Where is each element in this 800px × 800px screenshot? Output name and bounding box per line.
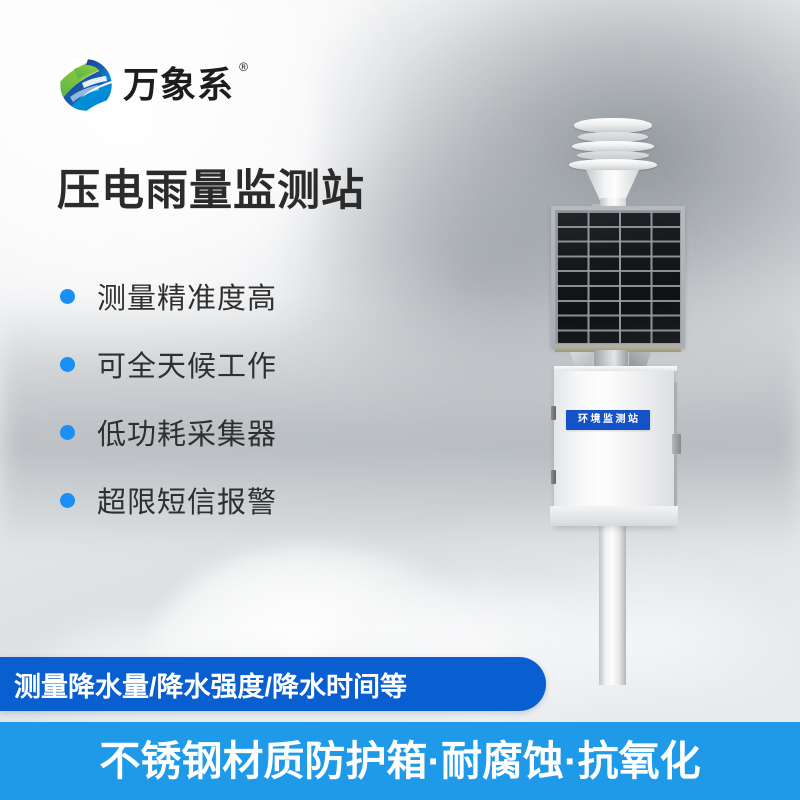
product-promo-page: 万象系 ® 压电雨量监测站 测量精准度高 可全天候工作 低功耗采集器 超限短信报… xyxy=(0,0,800,800)
hinge-icon xyxy=(551,406,556,420)
bullet-dot-icon xyxy=(60,425,75,440)
bullet-dot-icon xyxy=(60,357,75,372)
cabinet-bottom-lip xyxy=(550,506,678,526)
bullet-dot-icon xyxy=(60,493,75,508)
feature-label-4: 超限短信报警 xyxy=(97,479,277,521)
globe-swirl-logo-icon xyxy=(58,57,114,113)
feature-label-1: 测量精准度高 xyxy=(97,275,277,317)
ultrasonic-weather-sensor-icon xyxy=(560,110,665,220)
feature-list: 测量精准度高 可全天候工作 低功耗采集器 超限短信报警 xyxy=(60,262,390,534)
enclosure-cabinet: 环境监测站 xyxy=(544,366,689,526)
trademark-symbol: ® xyxy=(239,61,249,73)
bottom-banner: 不锈钢材质防护箱·耐腐蚀·抗氧化 xyxy=(0,722,800,800)
feature-label-3: 低功耗采集器 xyxy=(97,411,277,453)
feature-item-3: 低功耗采集器 xyxy=(60,398,390,466)
cabinet-top-lip xyxy=(554,366,677,371)
sensor-cone xyxy=(586,170,639,200)
cabinet-body xyxy=(554,366,674,526)
cabinet-label-plate: 环境监测站 xyxy=(566,410,650,430)
latch-icon xyxy=(672,434,681,454)
shield-disc-5 xyxy=(569,159,657,171)
page-title: 压电雨量监测站 xyxy=(57,168,365,215)
brand-name-wrapper: 万象系 ® xyxy=(123,67,234,103)
brand-logo: 万象系 ® xyxy=(58,56,234,114)
shield-disc-1 xyxy=(574,118,652,133)
feature-item-2: 可全天候工作 xyxy=(60,330,390,398)
cabinet-label-text: 环境监测站 xyxy=(576,415,641,425)
product-image: 环境监测站 xyxy=(500,100,760,700)
hinge-icon xyxy=(551,470,556,484)
solar-panel-icon xyxy=(551,206,685,348)
mounting-pole-lower-icon xyxy=(599,520,626,685)
brand-name: 万象系 xyxy=(123,64,234,105)
feature-banner-pill: 测量降水量/降水强度/降水时间等 xyxy=(0,657,546,711)
feature-banner-text: 测量降水量/降水强度/降水时间等 xyxy=(14,665,407,704)
feature-item-4: 超限短信报警 xyxy=(60,466,390,534)
solar-cells xyxy=(555,210,681,344)
feature-item-1: 测量精准度高 xyxy=(60,262,390,330)
feature-label-2: 可全天候工作 xyxy=(97,343,277,385)
bullet-dot-icon xyxy=(60,289,75,304)
bottom-banner-text: 不锈钢材质防护箱·耐腐蚀·抗氧化 xyxy=(99,741,700,782)
